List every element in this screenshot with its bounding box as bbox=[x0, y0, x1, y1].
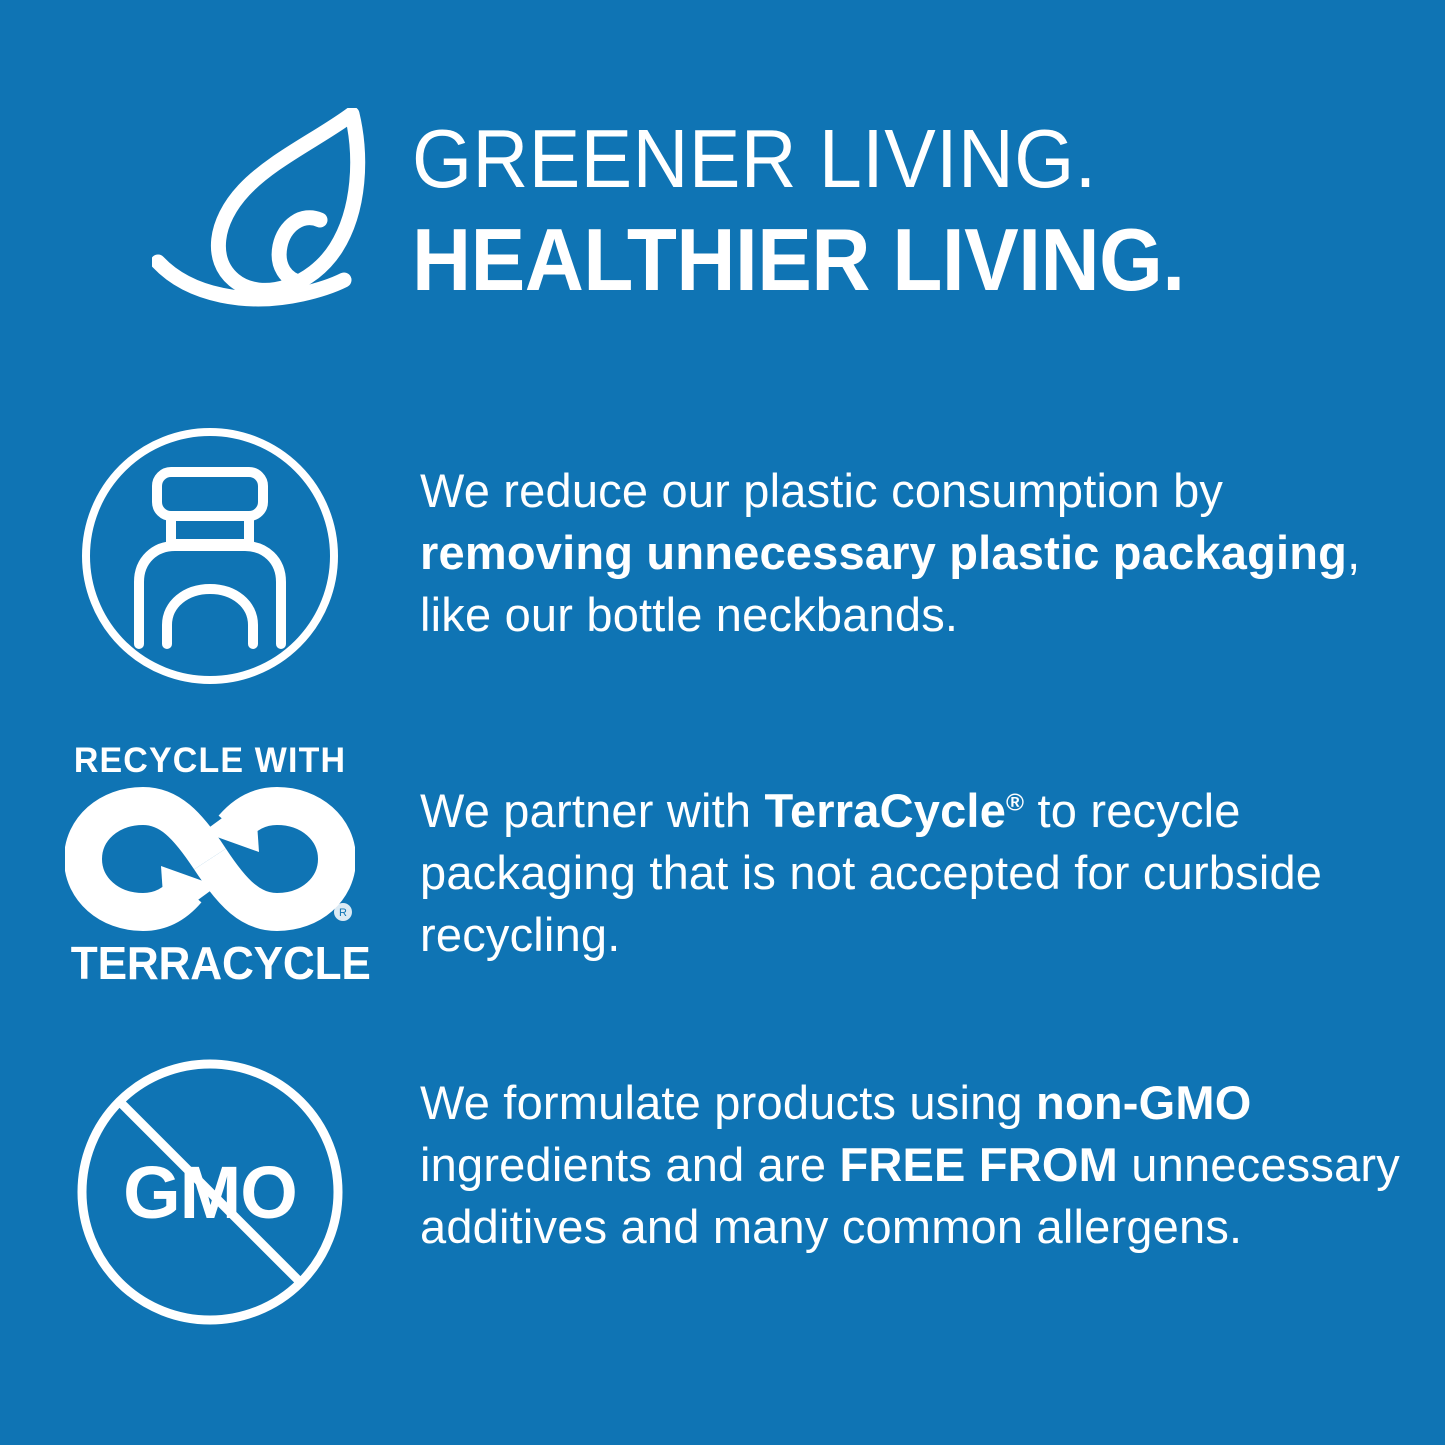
text-segment: We partner with bbox=[420, 784, 765, 837]
bottle-neckband-icon bbox=[76, 422, 344, 690]
registered-trademark-symbol: ® bbox=[1006, 789, 1024, 816]
terracycle-top-label: RECYCLE WITH bbox=[69, 742, 350, 780]
text-segment-bold: non-GMO bbox=[1036, 1076, 1251, 1129]
text-cell-plastic: We reduce our plastic consumption by rem… bbox=[420, 418, 1445, 646]
headline-line-1: GREENER LIVING. bbox=[412, 112, 1305, 205]
text-segment: We formulate products using bbox=[420, 1076, 1036, 1129]
feature-text-terracycle: We partner with TerraCycle® to recycle p… bbox=[420, 780, 1405, 966]
header: GREENER LIVING. HEALTHIER LIVING. bbox=[0, 0, 1445, 360]
text-cell-gmo: We formulate products using non-GMO ingr… bbox=[420, 1050, 1445, 1258]
text-segment-bold: removing unnecessary plastic packaging bbox=[420, 526, 1347, 579]
feature-text-plastic: We reduce our plastic consumption by rem… bbox=[420, 460, 1405, 646]
text-segment-bold: FREE FROM bbox=[839, 1138, 1118, 1191]
feature-row-gmo: GMO We formulate products using non-GMO … bbox=[0, 1050, 1445, 1360]
infinity-arrows-icon: R bbox=[65, 784, 355, 934]
svg-text:R: R bbox=[339, 907, 347, 919]
text-cell-terracycle: We partner with TerraCycle® to recycle p… bbox=[420, 740, 1445, 966]
infographic-page: GREENER LIVING. HEALTHIER LIVING. bbox=[0, 0, 1445, 1445]
headline-block: GREENER LIVING. HEALTHIER LIVING. bbox=[412, 112, 1372, 309]
icon-cell-gmo: GMO bbox=[0, 1050, 420, 1328]
terracycle-bottom-label: TERRACYCLE bbox=[71, 938, 349, 988]
icon-cell-terracycle: RECYCLE WITH bbox=[0, 740, 420, 988]
feature-text-gmo: We formulate products using non-GMO ingr… bbox=[420, 1072, 1405, 1258]
feature-row-terracycle: RECYCLE WITH bbox=[0, 740, 1445, 1010]
text-segment-bold: TerraCycle bbox=[765, 784, 1007, 837]
text-segment: We reduce our plastic consumption by bbox=[420, 464, 1223, 517]
terracycle-logo: RECYCLE WITH bbox=[65, 742, 355, 988]
icon-cell-bottle bbox=[0, 418, 420, 690]
leaf-icon bbox=[152, 108, 402, 313]
headline-line-2: HEALTHIER LIVING. bbox=[412, 211, 1305, 309]
text-segment: ingredients and are bbox=[420, 1138, 839, 1191]
no-gmo-icon: GMO bbox=[74, 1056, 346, 1328]
feature-row-plastic: We reduce our plastic consumption by rem… bbox=[0, 418, 1445, 718]
